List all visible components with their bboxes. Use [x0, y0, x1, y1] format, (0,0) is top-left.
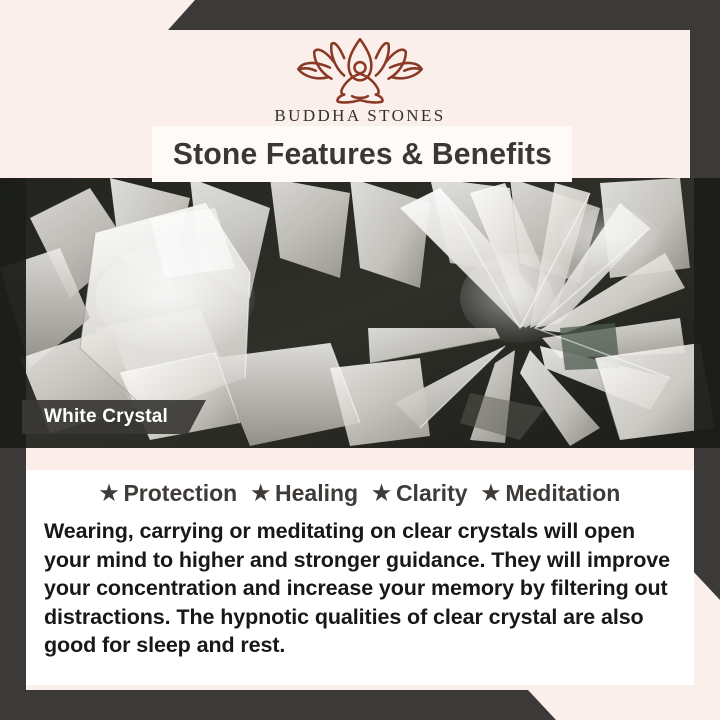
content-panel: ★ Protection ★ Healing ★ Clarity ★ Medit…: [26, 470, 694, 685]
benefit-item-meditation: ★ Meditation: [482, 480, 621, 507]
star-icon: ★: [372, 483, 391, 504]
frame-bottom-bar: [0, 690, 720, 720]
frame-top-bar: [0, 0, 720, 30]
benefit-item-protection: ★ Protection: [100, 480, 238, 507]
benefits-row: ★ Protection ★ Healing ★ Clarity ★ Medit…: [26, 470, 694, 507]
lotus-meditation-icon: [280, 36, 440, 104]
benefit-item-healing: ★ Healing: [251, 480, 358, 507]
photo-caption: White Crystal: [22, 400, 206, 434]
star-icon: ★: [482, 483, 501, 504]
stone-features-poster: BUDDHA STONES Stone Features & Benefits: [0, 0, 720, 720]
benefit-label: Meditation: [505, 480, 620, 507]
benefit-label: Protection: [123, 480, 237, 507]
frame-left-bar: [0, 440, 26, 720]
page-title: Stone Features & Benefits: [172, 136, 551, 172]
brand-wordmark: BUDDHA STONES: [274, 106, 445, 126]
photo-caption-label: White Crystal: [44, 406, 168, 428]
content-top-band: [26, 448, 694, 470]
benefit-item-clarity: ★ Clarity: [372, 480, 467, 507]
star-icon: ★: [100, 483, 119, 504]
benefit-label: Healing: [275, 480, 358, 507]
benefit-label: Clarity: [396, 480, 468, 507]
star-icon: ★: [251, 483, 270, 504]
description-text: Wearing, carrying or meditating on clear…: [44, 517, 676, 660]
brand-logo: BUDDHA STONES: [0, 30, 720, 126]
title-banner: Stone Features & Benefits: [152, 126, 572, 182]
